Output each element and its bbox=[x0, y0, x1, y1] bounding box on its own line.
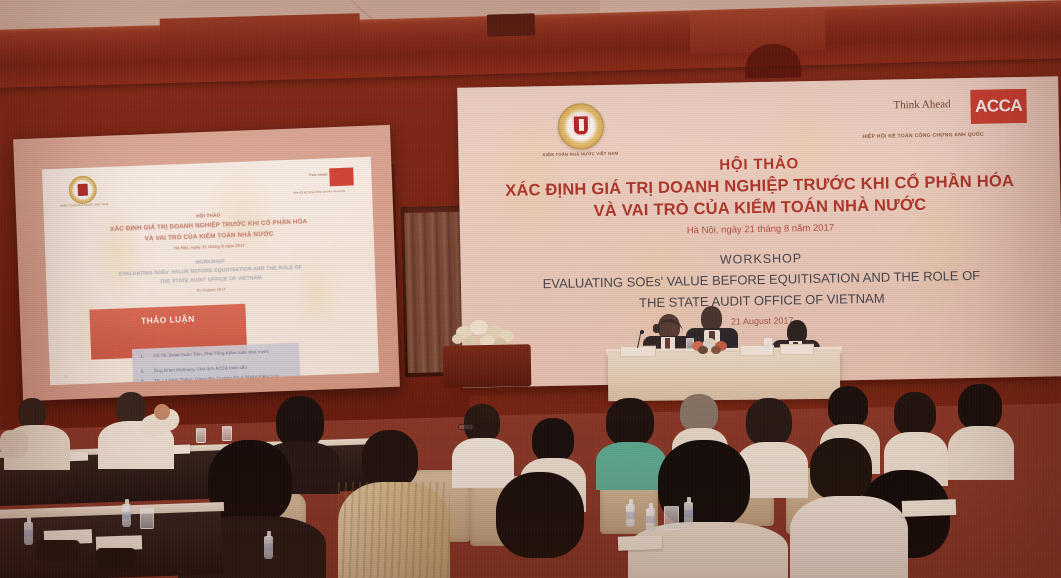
water-bottle bbox=[24, 522, 33, 545]
microphone-head-icon bbox=[697, 332, 701, 336]
water-bottle bbox=[684, 502, 693, 525]
water-bottle bbox=[264, 536, 273, 559]
audience-hand bbox=[154, 404, 170, 420]
list-item-label: GS.TS. Đoàn Xuân Tiên, Phó Tổng Kiểm toá… bbox=[153, 348, 295, 360]
slide-page-number: 15 bbox=[64, 375, 68, 379]
audience-head bbox=[362, 430, 418, 488]
water-bottle bbox=[626, 504, 635, 527]
shirt-stripes bbox=[338, 482, 450, 578]
audience-head bbox=[464, 404, 500, 442]
audience-member bbox=[790, 438, 908, 578]
banner-en-title-2: THE STATE AUDIT OFFICE OF VIETNAM bbox=[461, 287, 1061, 314]
water-bottle bbox=[122, 504, 131, 527]
water-glass bbox=[764, 338, 772, 351]
slide-acca-logo-icon bbox=[329, 167, 354, 186]
acca-wordmark: ACCA bbox=[975, 96, 1022, 117]
projection-slide: KIỂM TOÁN NHÀ NƯỚC VIỆT NAM Think Ahead … bbox=[42, 157, 379, 385]
audience-head bbox=[680, 394, 718, 432]
audience-head bbox=[810, 438, 872, 500]
sav-emblem-caption: KIỂM TOÁN NHÀ NƯỚC VIỆT NAM bbox=[524, 150, 636, 157]
acca-logo-icon: ACCA bbox=[970, 89, 1027, 124]
ceiling-vent bbox=[487, 13, 536, 36]
audience-head bbox=[532, 418, 574, 462]
shield-icon bbox=[572, 115, 589, 136]
slide-section-heading: THẢO LUẬN bbox=[90, 312, 246, 328]
water-glass bbox=[664, 506, 679, 530]
audience-torso bbox=[790, 496, 908, 578]
list-item-number: 1. bbox=[140, 353, 148, 360]
audience-head bbox=[606, 398, 654, 446]
audience-head bbox=[958, 384, 1002, 430]
water-glass bbox=[140, 508, 154, 529]
acca-caption: HIỆP HỘI KẾ TOÁN CÔNG CHỨNG ANH QUỐC bbox=[813, 131, 1033, 141]
water-bottle bbox=[646, 508, 655, 531]
table-flowers bbox=[692, 338, 734, 352]
microphone-head-icon bbox=[640, 330, 644, 334]
flower-pot bbox=[443, 344, 532, 388]
banner-en-date: 21 August 2017 bbox=[462, 310, 1061, 332]
bag-object bbox=[36, 540, 80, 562]
event-banner: KIỂM TOÁN NHÀ NƯỚC VIỆT NAM Think Ahead … bbox=[457, 76, 1061, 387]
acca-tagline: Think Ahead bbox=[893, 98, 950, 111]
audience-arm bbox=[0, 430, 28, 458]
sav-emblem-icon bbox=[558, 103, 605, 150]
name-card bbox=[780, 344, 814, 355]
audience-member-foreground bbox=[486, 472, 598, 578]
audience-head bbox=[828, 386, 868, 428]
handout-paper bbox=[902, 499, 957, 517]
handout-paper bbox=[618, 535, 662, 551]
water-glass bbox=[222, 426, 232, 441]
audience-head bbox=[18, 398, 46, 428]
audience-member bbox=[948, 384, 1014, 476]
audience-head bbox=[746, 398, 792, 446]
conference-photo: KIỂM TOÁN NHÀ NƯỚC VIỆT NAM Think Ahead … bbox=[0, 0, 1061, 578]
cornice-break bbox=[160, 13, 361, 49]
headphone-earcup-icon bbox=[653, 324, 660, 333]
list-item-number: 2. bbox=[141, 368, 149, 375]
slide-acca-tagline: Think Ahead bbox=[308, 172, 327, 177]
eyeglasses-icon bbox=[458, 424, 474, 430]
audience-head bbox=[496, 472, 584, 558]
list-item: 1. GS.TS. Đoàn Xuân Tiên, Phó Tổng Kiểm … bbox=[140, 348, 295, 360]
bag-object bbox=[96, 548, 136, 568]
audience-head bbox=[894, 392, 936, 436]
